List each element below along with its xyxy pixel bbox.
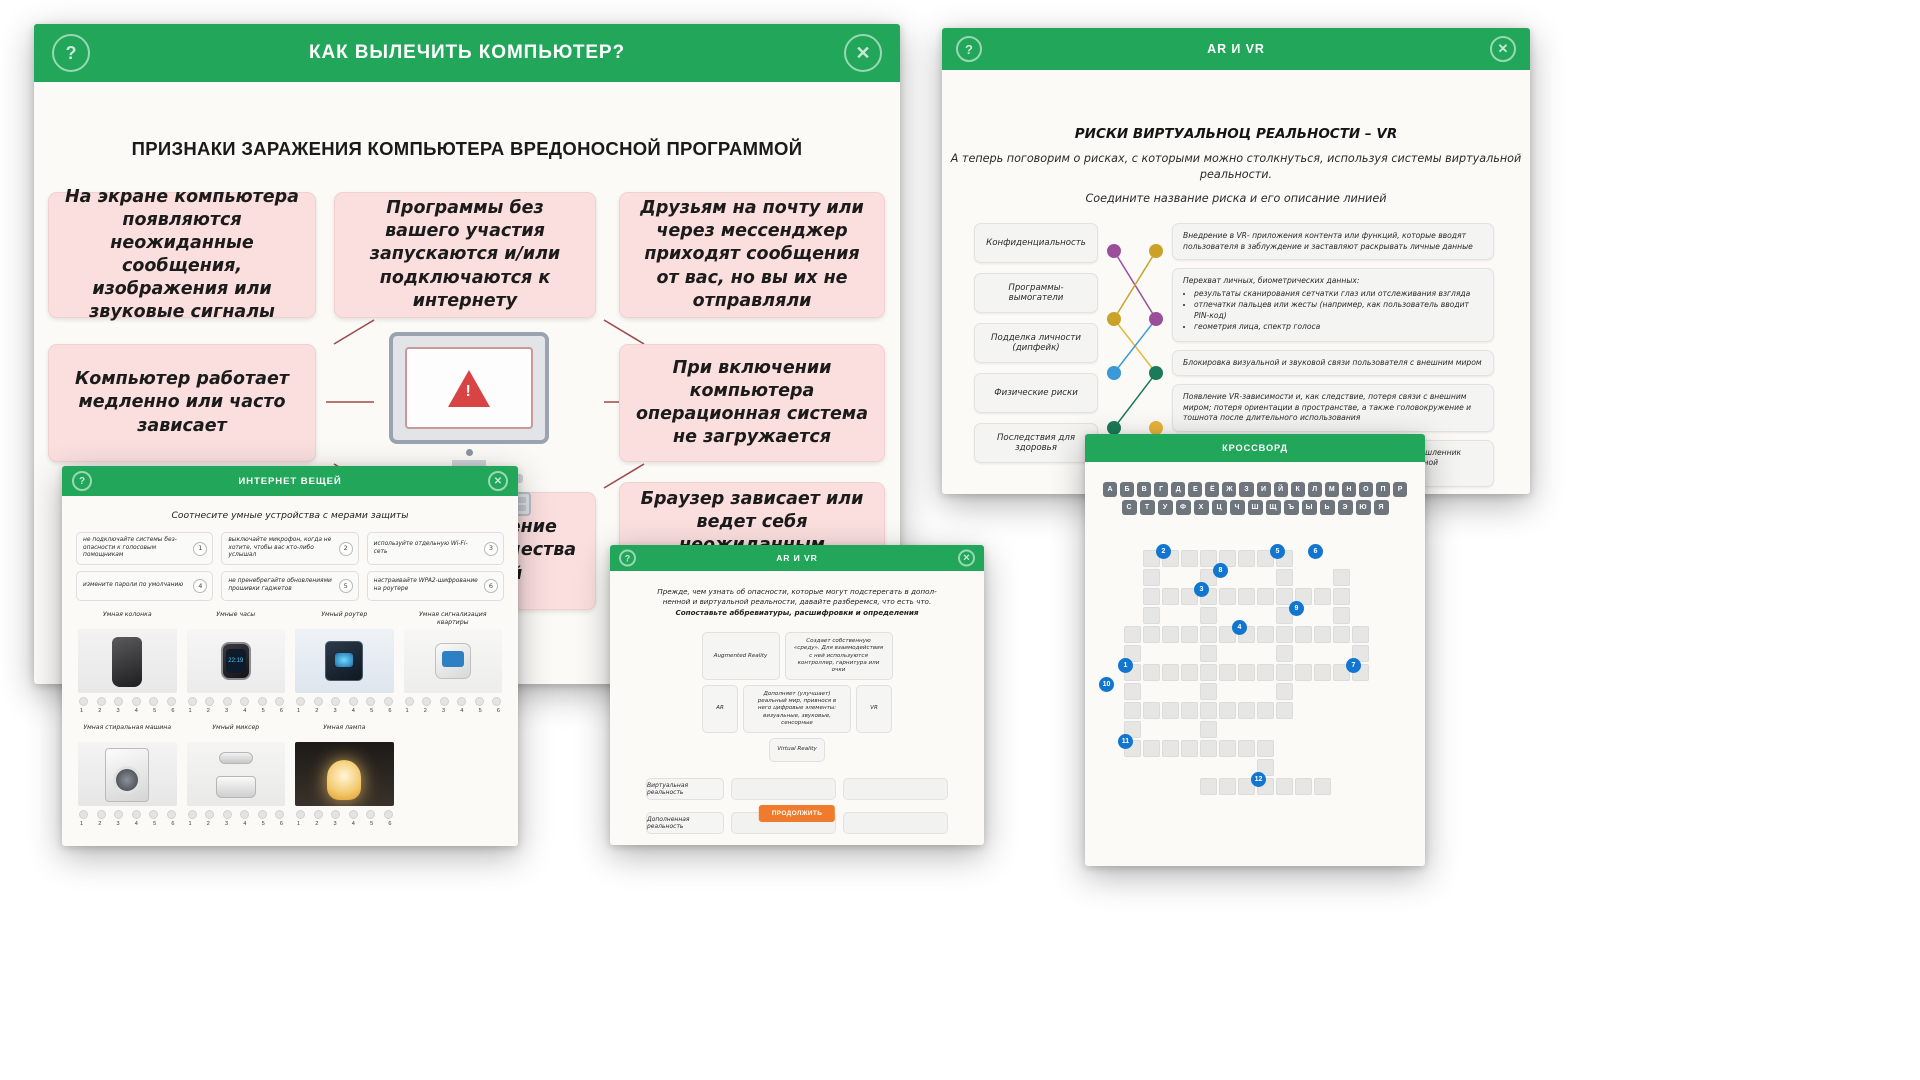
risk-chip[interactable]: Подделка личности (дипфейк) (974, 323, 1098, 363)
description-text: Появление VR-зависимости и, как следстви… (1183, 392, 1471, 422)
keyboard-key-З[interactable]: З (1239, 482, 1253, 497)
bank-chip[interactable]: AR (702, 685, 738, 733)
bank-chip[interactable]: Augmented Reality (702, 632, 780, 680)
sign-text: При включении компьютера операционная си… (634, 357, 870, 449)
opt-num: 1 (80, 821, 83, 827)
keyboard-key-Р[interactable]: Р (1393, 482, 1407, 497)
opt-num: 4 (352, 821, 355, 827)
risk-chip[interactable]: Последствия для здоровья (974, 423, 1098, 463)
device-label: Умная стиральная машина (78, 724, 177, 740)
keyboard-key-П[interactable]: П (1376, 482, 1390, 497)
measure-number: 2 (339, 542, 353, 556)
titlebar-arvr: ? AR И VR ✕ (610, 545, 984, 571)
device-item: Умная лампа 1 2 3 4 5 6 (295, 724, 394, 827)
crossword-cell[interactable] (1162, 626, 1179, 643)
instruction: Соедините название риска и его описание … (942, 192, 1530, 205)
help-icon[interactable]: ? (619, 550, 636, 567)
opt-num: 5 (153, 708, 156, 714)
opt-num: 1 (189, 821, 192, 827)
crossword-cell[interactable] (1314, 588, 1331, 605)
close-icon[interactable]: ✕ (1490, 36, 1516, 62)
crossword-cell[interactable] (1124, 683, 1141, 700)
description-chip[interactable]: Внедрение в VR- приложения контента или … (1172, 223, 1494, 260)
answer-numbers: 1 2 3 4 5 6 (404, 708, 503, 714)
crossword-cell[interactable] (1257, 702, 1274, 719)
device-label: Умные часы (187, 611, 286, 627)
crossword-grid: 123456789101112 (1105, 531, 1405, 821)
subtitle: А теперь поговорим о рисках, с которыми … (942, 151, 1530, 183)
opt-num: 1 (297, 821, 300, 827)
keyboard-key-В[interactable]: В (1137, 482, 1151, 497)
window-title: AR И VR (1207, 42, 1265, 56)
keyboard-key-Т[interactable]: Т (1140, 500, 1155, 515)
crossword-cell[interactable] (1276, 778, 1293, 795)
measure-number: 5 (339, 579, 353, 593)
crossword-cell[interactable] (1200, 721, 1217, 738)
opt-num: 6 (171, 708, 174, 714)
crossword-cell[interactable] (1333, 588, 1350, 605)
device-label: Умный миксер (187, 724, 286, 740)
measure-number: 6 (484, 579, 498, 593)
measure-text: измените пароли по умолчанию (83, 582, 183, 590)
keyboard-key-Ё[interactable]: Ё (1205, 482, 1219, 497)
keyboard-key-М[interactable]: М (1325, 482, 1339, 497)
row-label: Виртуальная реальность (646, 778, 724, 800)
opt-num: 4 (352, 708, 355, 714)
opt-num: 3 (117, 821, 120, 827)
crossword-cell[interactable] (1257, 626, 1274, 643)
crossword-cell[interactable] (1200, 740, 1217, 757)
measures-grid: не подключайте системы без-опасности к г… (62, 532, 518, 601)
titlebar-vr: ? AR И VR ✕ (942, 28, 1530, 70)
keyboard-key-Ы[interactable]: Ы (1302, 500, 1317, 515)
keyboard-key-Ж[interactable]: Ж (1222, 482, 1236, 497)
opt-num: 5 (262, 708, 265, 714)
crossword-cell[interactable] (1162, 740, 1179, 757)
answer-dots[interactable] (295, 810, 394, 819)
window-iot: ? ИНТЕРНЕТ ВЕЩЕЙ ✕ Соотнесите умные устр… (62, 466, 518, 846)
crossword-cell[interactable] (1181, 740, 1198, 757)
keyboard-key-Щ[interactable]: Щ (1266, 500, 1281, 515)
keyboard-key-Н[interactable]: Н (1342, 482, 1356, 497)
measure-item[interactable]: выключайте микрофон, когда не хотите, чт… (221, 532, 358, 565)
crossword-cell[interactable] (1200, 778, 1217, 795)
answer-numbers: 1 2 3 4 5 6 (78, 708, 177, 714)
smart-washer-image (78, 742, 177, 806)
crossword-cell[interactable] (1219, 740, 1236, 757)
crossword-cell[interactable] (1143, 740, 1160, 757)
crossword-cell[interactable] (1124, 702, 1141, 719)
opt-num: 1 (80, 708, 83, 714)
titlebar-iot: ? ИНТЕРНЕТ ВЕЩЕЙ ✕ (62, 466, 518, 496)
opt-num: 2 (207, 708, 210, 714)
keyboard-key-У[interactable]: У (1158, 500, 1173, 515)
opt-num: 5 (479, 708, 482, 714)
sign-card: Друзьям на почту или через мессенджер пр… (619, 192, 885, 318)
sign-text: Программы без вашего участия запускаются… (349, 197, 581, 312)
opt-num: 3 (225, 708, 228, 714)
cyrillic-keyboard: АБВГДЕЁЖЗИЙКЛМНОПР СТУФХЦЧШЩЪЫЬЭЮЯ (1085, 462, 1425, 515)
sign-text: Компьютер работает медленно или часто за… (63, 368, 301, 437)
crossword-cell[interactable] (1200, 683, 1217, 700)
window-title: КРОССВОРД (1222, 443, 1288, 453)
keyboard-key-Б[interactable]: Б (1120, 482, 1134, 497)
measure-text: настраивайте WPA2-шифрование на роутере (374, 578, 479, 593)
keyboard-key-Ь[interactable]: Ь (1320, 500, 1335, 515)
crossword-cell[interactable] (1124, 626, 1141, 643)
crossword-clue-number-3[interactable]: 3 (1194, 582, 1209, 597)
smart-router-image (295, 629, 394, 693)
window-crossword: КРОССВОРД АБВГДЕЁЖЗИЙКЛМНОПР СТУФХЦЧШЩЪЫ… (1085, 434, 1425, 866)
opt-num: 6 (388, 708, 391, 714)
keyboard-key-Л[interactable]: Л (1308, 482, 1322, 497)
keyboard-key-К[interactable]: К (1291, 482, 1305, 497)
risk-chip[interactable]: Физические риски (974, 373, 1098, 413)
device-label: Умная лампа (295, 724, 394, 740)
crossword-clue-number-4[interactable]: 4 (1232, 620, 1247, 635)
opt-num: 6 (280, 821, 283, 827)
opt-num: 1 (189, 708, 192, 714)
crossword-cell[interactable] (1295, 778, 1312, 795)
crossword-cell[interactable] (1238, 588, 1255, 605)
drop-slot[interactable] (843, 812, 948, 834)
keyboard-key-Ю[interactable]: Ю (1356, 500, 1371, 515)
body-arvr: Прежде, чем узнать об опасности, которые… (610, 587, 984, 834)
answer-numbers: 1 2 3 4 5 6 (78, 821, 177, 827)
crossword-cell[interactable] (1181, 626, 1198, 643)
crossword-cell[interactable] (1162, 702, 1179, 719)
window-title: КАК ВЫЛЕЧИТЬ КОМПЬЮТЕР? (309, 42, 625, 64)
close-icon[interactable]: ✕ (488, 471, 508, 491)
instruction-block: Прежде, чем узнать об опасности, которые… (610, 587, 984, 618)
measure-item[interactable]: не пренебрегайте обновлениями прошивки г… (221, 571, 358, 601)
keyboard-key-Ш[interactable]: Ш (1248, 500, 1263, 515)
crossword-cell[interactable] (1181, 702, 1198, 719)
crossword-cell[interactable] (1143, 664, 1160, 681)
computer-warning-icon (389, 332, 549, 482)
smart-mixer-image (187, 742, 286, 806)
crossword-cell[interactable] (1219, 702, 1236, 719)
measure-text: выключайте микрофон, когда не хотите, чт… (228, 537, 333, 560)
description-bullet: геометрия лица, спектр голоса (1194, 322, 1483, 332)
titlebar-crossword: КРОССВОРД (1085, 434, 1425, 462)
instruction-line-1: Прежде, чем узнать об опасности, которые… (657, 587, 936, 596)
crossword-cell[interactable] (1143, 569, 1160, 586)
page-title: РИСКИ ВИРТУАЛЬНОЦ РЕАЛЬНОСТИ – VR (942, 126, 1530, 142)
crossword-cell[interactable] (1257, 740, 1274, 757)
crossword-clue-number-11[interactable]: 11 (1118, 734, 1133, 749)
crossword-cell[interactable] (1295, 626, 1312, 643)
crossword-clue-number-1[interactable]: 1 (1118, 658, 1133, 673)
instruction: Соотнесите умные устройства с мерами защ… (62, 510, 518, 521)
instruction-line-2: ненной и виртуальной реальности, давайте… (663, 597, 932, 606)
row-label: Дополненная реальность (646, 812, 724, 834)
measure-number: 4 (193, 579, 207, 593)
keyboard-row-1: АБВГДЕЁЖЗИЙКЛМНОПР (1103, 482, 1407, 497)
answer-dots[interactable] (295, 697, 394, 706)
opt-num: 5 (262, 821, 265, 827)
bank-chip[interactable]: Создает собственную «среду». Для взаимод… (785, 632, 893, 680)
risk-chip[interactable]: Конфиденциальность (974, 223, 1098, 263)
devices-row-2: Умная стиральная машина 1 2 3 4 5 6 Умны… (62, 714, 518, 827)
device-item: Умная стиральная машина 1 2 3 4 5 6 (78, 724, 177, 827)
crossword-cell[interactable] (1352, 626, 1369, 643)
opt-num: 3 (225, 821, 228, 827)
measure-number: 1 (193, 542, 207, 556)
keyboard-key-А[interactable]: А (1103, 482, 1117, 497)
answer-bank: Augmented Reality Создает собственную «с… (610, 632, 984, 762)
answer-dots[interactable] (78, 697, 177, 706)
crossword-clue-number-12[interactable]: 12 (1251, 772, 1266, 787)
continue-button[interactable]: ПРОДОЛЖИТЬ (759, 805, 835, 822)
devices-row-1: Умная колонка 1 2 3 4 5 6 Умные часы 22:… (62, 601, 518, 714)
answer-dots[interactable] (187, 697, 286, 706)
crossword-cell[interactable] (1143, 607, 1160, 624)
opt-num: 1 (297, 708, 300, 714)
measure-item[interactable]: используйте отдельную Wi-Fi-сеть 3 (367, 532, 504, 565)
close-icon[interactable]: ✕ (958, 550, 975, 567)
keyboard-key-С[interactable]: С (1122, 500, 1137, 515)
bank-chip[interactable]: Дополняет (улучшает) реальный мир, привн… (743, 685, 851, 733)
opt-num: 3 (334, 821, 337, 827)
titlebar-malware: ? КАК ВЫЛЕЧИТЬ КОМПЬЮТЕР? ✕ (34, 24, 900, 82)
opt-num: 2 (315, 821, 318, 827)
answer-numbers: 1 2 3 4 5 6 (295, 708, 394, 714)
risk-chip[interactable]: Программы-вымогатели (974, 273, 1098, 313)
description-bullet: отпечатки пальцев или жесты (например, к… (1194, 300, 1483, 321)
keyboard-key-Й[interactable]: Й (1274, 482, 1288, 497)
crossword-clue-number-9[interactable]: 9 (1289, 601, 1304, 616)
keyboard-key-Г[interactable]: Г (1154, 482, 1168, 497)
smart-watch-image: 22:19 (187, 629, 286, 693)
sign-card: Программы без вашего участия запускаются… (334, 192, 596, 318)
device-label: Умный роутер (295, 611, 394, 627)
keyboard-key-О[interactable]: О (1359, 482, 1373, 497)
window-title: ИНТЕРНЕТ ВЕЩЕЙ (238, 476, 341, 487)
crossword-cell[interactable] (1238, 550, 1255, 567)
description-chip[interactable]: Появление VR-зависимости и, как следстви… (1172, 384, 1494, 431)
answer-dots[interactable] (404, 697, 503, 706)
crossword-cell[interactable] (1295, 664, 1312, 681)
crossword-cell[interactable] (1200, 607, 1217, 624)
crossword-cell[interactable] (1257, 664, 1274, 681)
drop-slot[interactable] (843, 778, 948, 800)
answer-numbers: 1 2 3 4 5 6 (295, 821, 394, 827)
crossword-cell[interactable] (1181, 550, 1198, 567)
device-item: Умный роутер 1 2 3 4 5 6 (295, 611, 394, 714)
measure-text: используйте отдельную Wi-Fi-сеть (374, 541, 479, 556)
opt-num: 4 (243, 821, 246, 827)
crossword-cell[interactable] (1143, 626, 1160, 643)
keyboard-key-Я[interactable]: Я (1374, 500, 1389, 515)
page-title: ПРИЗНАКИ ЗАРАЖЕНИЯ КОМПЬЮТЕРА ВРЕДОНОСНО… (34, 138, 900, 160)
device-label: Умная сигнализация квартиры (404, 611, 503, 627)
answer-numbers: 1 2 3 4 5 6 (187, 821, 286, 827)
smart-alarm-image (404, 629, 503, 693)
crossword-cell[interactable] (1162, 588, 1179, 605)
keyboard-key-Х[interactable]: Х (1194, 500, 1209, 515)
crossword-cell[interactable] (1143, 702, 1160, 719)
crossword-clue-number-6[interactable]: 6 (1308, 544, 1323, 559)
crossword-cell[interactable] (1276, 702, 1293, 719)
device-label: Умная колонка (78, 611, 177, 627)
description-chip[interactable]: Блокировка визуальной и звуковой связи п… (1172, 350, 1494, 376)
crossword-clue-number-7[interactable]: 7 (1346, 658, 1361, 673)
smart-lamp-image (295, 742, 394, 806)
crossword-cell[interactable] (1276, 645, 1293, 662)
window-arvr-abbreviations: ? AR И VR ✕ Прежде, чем узнать об опасно… (610, 545, 984, 845)
opt-num: 4 (135, 821, 138, 827)
device-item: Умная сигнализация квартиры 1 2 3 4 5 6 (404, 611, 503, 714)
description-text: Внедрение в VR- приложения контента или … (1183, 231, 1473, 250)
crossword-cell[interactable] (1276, 569, 1293, 586)
description-text: Блокировка визуальной и звуковой связи п… (1183, 358, 1482, 367)
help-icon[interactable]: ? (956, 36, 982, 62)
crossword-cell[interactable] (1181, 664, 1198, 681)
opt-num: 5 (153, 821, 156, 827)
opt-num: 2 (424, 708, 427, 714)
answer-numbers: 1 2 3 4 5 6 (187, 708, 286, 714)
opt-num: 6 (280, 708, 283, 714)
sign-card: Компьютер работает медленно или часто за… (48, 344, 316, 462)
crossword-cell[interactable] (1333, 569, 1350, 586)
crossword-cell[interactable] (1219, 778, 1236, 795)
crossword-clue-number-5[interactable]: 5 (1270, 544, 1285, 559)
description-bullet: результаты сканирования сетчатки глаз ил… (1194, 289, 1483, 299)
keyboard-key-Ч[interactable]: Ч (1230, 500, 1245, 515)
crossword-cell[interactable] (1219, 664, 1236, 681)
opt-num: 2 (207, 821, 210, 827)
body-vr: РИСКИ ВИРТУАЛЬНОЦ РЕАЛЬНОСТИ – VR А тепе… (942, 126, 1530, 473)
screenshot-stage: ? КАК ВЫЛЕЧИТЬ КОМПЬЮТЕР? ✕ ПРИЗНАКИ ЗАР… (0, 0, 1920, 1080)
keyboard-key-Ъ[interactable]: Ъ (1284, 500, 1299, 515)
device-item: Умные часы 22:19 1 2 3 4 5 6 (187, 611, 286, 714)
crossword-cell[interactable] (1143, 588, 1160, 605)
sign-text: На экране компьютера появляются неожидан… (63, 186, 301, 325)
risk-names-column: Конфиденциальность Программы-вымогатели … (974, 223, 1098, 463)
measure-number: 3 (484, 542, 498, 556)
opt-num: 3 (334, 708, 337, 714)
keyboard-key-Д[interactable]: Д (1171, 482, 1185, 497)
crossword-cell[interactable] (1314, 778, 1331, 795)
keyboard-row-2: СТУФХЦЧШЩЪЫЬЭЮЯ (1103, 500, 1407, 515)
crossword-cell[interactable] (1276, 626, 1293, 643)
crossword-cell[interactable] (1162, 664, 1179, 681)
sign-text: Друзьям на почту или через мессенджер пр… (634, 197, 870, 312)
crossword-cell[interactable] (1200, 626, 1217, 643)
opt-num: 2 (98, 821, 101, 827)
measure-text: не подключайте системы без-опасности к г… (83, 537, 188, 560)
close-icon[interactable]: ✕ (844, 34, 882, 72)
opt-num: 6 (497, 708, 500, 714)
crossword-cell[interactable] (1314, 664, 1331, 681)
opt-num: 5 (370, 708, 373, 714)
measure-item[interactable]: настраивайте WPA2-шифрование на роутере … (367, 571, 504, 601)
drop-slot[interactable] (731, 778, 836, 800)
keyboard-key-Ф[interactable]: Ф (1176, 500, 1191, 515)
keyboard-key-И[interactable]: И (1257, 482, 1271, 497)
crossword-cell[interactable] (1276, 683, 1293, 700)
crossword-cell[interactable] (1200, 645, 1217, 662)
opt-num: 5 (370, 821, 373, 827)
keyboard-key-Э[interactable]: Э (1338, 500, 1353, 515)
crossword-cell[interactable] (1257, 588, 1274, 605)
measure-text: не пренебрегайте обновлениями прошивки г… (228, 578, 333, 593)
opt-num: 2 (98, 708, 101, 714)
body-iot: Соотнесите умные устройства с мерами защ… (62, 510, 518, 827)
help-icon[interactable]: ? (72, 471, 92, 491)
crossword-cell[interactable] (1238, 664, 1255, 681)
crossword-cell[interactable] (1238, 702, 1255, 719)
crossword-cell[interactable] (1333, 607, 1350, 624)
window-title: AR И VR (776, 553, 818, 563)
keyboard-key-Ц[interactable]: Ц (1212, 500, 1227, 515)
opt-num: 4 (460, 708, 463, 714)
description-text: Перехват личных, биометрических данных: (1183, 276, 1359, 285)
smart-speaker-image (78, 629, 177, 693)
device-item: Умный миксер 1 2 3 4 5 6 (187, 724, 286, 827)
bank-chip[interactable]: VR (856, 685, 892, 733)
instruction-bold: Сопоставьте аббревиатуры, расшифровки и … (675, 608, 918, 617)
body-crossword: АБВГДЕЁЖЗИЙКЛМНОПР СТУФХЦЧШЩЪЫЬЭЮЯ 12345… (1085, 462, 1425, 821)
opt-num: 6 (171, 821, 174, 827)
opt-num: 3 (442, 708, 445, 714)
window-vr-risks: ? AR И VR ✕ РИСКИ ВИРТУАЛЬНОЦ РЕАЛЬНОСТИ… (942, 28, 1530, 494)
measure-item[interactable]: не подключайте системы без-опасности к г… (76, 532, 213, 565)
help-icon[interactable]: ? (52, 34, 90, 72)
crossword-cell[interactable] (1200, 702, 1217, 719)
opt-num: 4 (135, 708, 138, 714)
opt-num: 6 (388, 821, 391, 827)
answer-dots[interactable] (78, 810, 177, 819)
opt-num: 4 (243, 708, 246, 714)
crossword-cell[interactable] (1333, 626, 1350, 643)
measure-item[interactable]: измените пароли по умолчанию 4 (76, 571, 213, 601)
opt-num: 3 (117, 708, 120, 714)
bank-chip[interactable]: Virtual Reality (769, 738, 825, 762)
crossword-cell[interactable] (1276, 664, 1293, 681)
crossword-cell[interactable] (1238, 740, 1255, 757)
opt-num: 1 (406, 708, 409, 714)
keyboard-key-Е[interactable]: Е (1188, 482, 1202, 497)
answer-row: Виртуальная реальность (646, 778, 948, 800)
crossword-clue-number-10[interactable]: 10 (1099, 677, 1114, 692)
crossword-cell[interactable] (1200, 664, 1217, 681)
sign-card: При включении компьютера операционная си… (619, 344, 885, 462)
crossword-cell[interactable] (1219, 588, 1236, 605)
opt-num: 2 (315, 708, 318, 714)
crossword-cell[interactable] (1314, 626, 1331, 643)
crossword-clue-number-8[interactable]: 8 (1213, 563, 1228, 578)
crossword-clue-number-2[interactable]: 2 (1156, 544, 1171, 559)
sign-card: На экране компьютера появляются неожидан… (48, 192, 316, 318)
device-item: Умная колонка 1 2 3 4 5 6 (78, 611, 177, 714)
answer-dots[interactable] (187, 810, 286, 819)
description-chip[interactable]: Перехват личных, биометрических данных: … (1172, 268, 1494, 341)
